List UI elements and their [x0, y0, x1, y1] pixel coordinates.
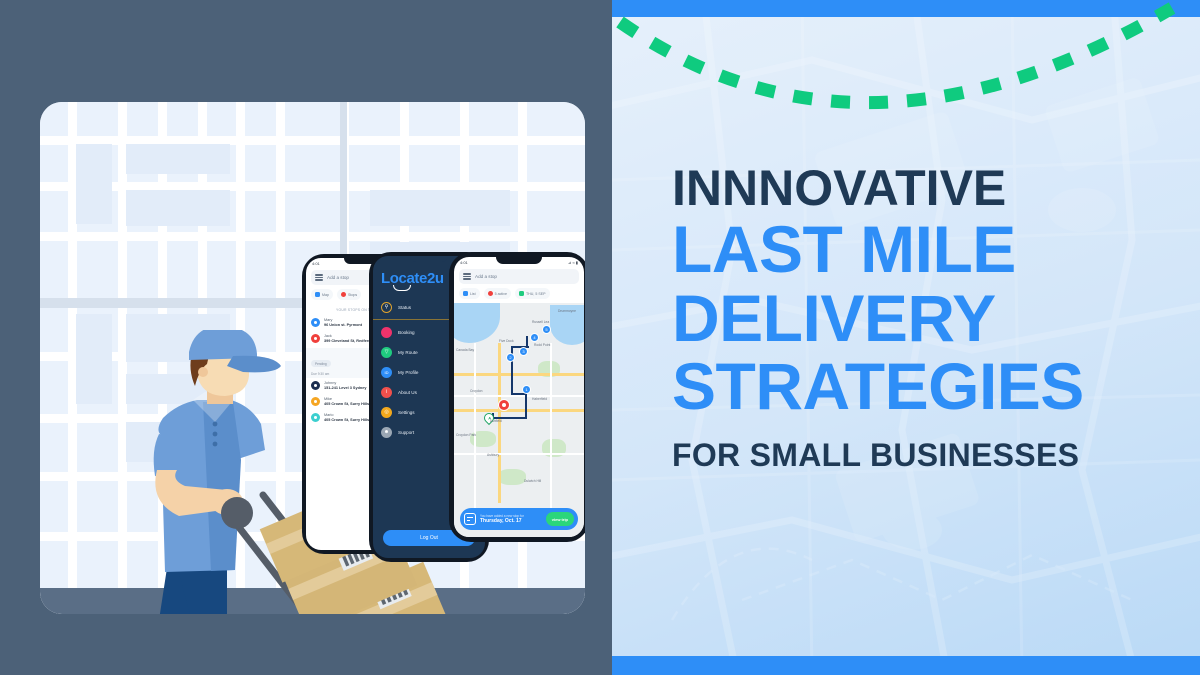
- route-marker[interactable]: 2: [506, 353, 515, 362]
- map-label: Croydon: [470, 389, 482, 393]
- headline-block: INNNOVATIVE LAST MILE DELIVERY STRATEGIE…: [672, 162, 1192, 474]
- green-dashed-arc: [612, 0, 1200, 140]
- route-marker[interactable]: 5: [542, 325, 551, 334]
- map-label: Five Dock: [499, 339, 514, 343]
- route-marker-label: 4: [533, 335, 535, 340]
- route-icon: ▽: [381, 347, 392, 358]
- chip-map[interactable]: Map: [311, 289, 333, 300]
- route-marker[interactable]: 3: [519, 347, 528, 356]
- stop-address: 405 Crown St, Surry Hills: [324, 402, 369, 407]
- booking-icon: [381, 327, 392, 338]
- route-marker-label: 1: [525, 387, 527, 392]
- right-content-panel: INNNOVATIVE LAST MILE DELIVERY STRATEGIE…: [612, 0, 1200, 675]
- map-label: Haberfield: [532, 397, 547, 401]
- map-label: Ashbury: [487, 453, 499, 457]
- stop-pin-icon: [311, 334, 320, 343]
- chip-list[interactable]: List: [459, 288, 480, 299]
- illustration-card: 4:01 ▮ Add a stop Map Stops: [40, 102, 585, 614]
- status-time: 4:01: [312, 261, 320, 266]
- status-icon: ⚲: [381, 302, 392, 313]
- map-label: Ashfield: [490, 419, 502, 423]
- map-label: Drummoyne: [558, 309, 576, 313]
- chip-active-stops[interactable]: 5 active: [484, 288, 511, 299]
- map-canvas[interactable]: 1 2 3 4 5 A Drummoyne Russell Lea Five D…: [454, 303, 584, 537]
- pin-icon: [488, 291, 493, 296]
- new-stop-toast: You have added a new stop for Thursday, …: [460, 508, 578, 530]
- phone-map-view: 4:01 ⊿ ≈ ▮ Add a stop List 5 active: [449, 252, 585, 542]
- map-label: Canada Bay: [456, 348, 474, 352]
- phone-right-screen: 4:01 ⊿ ≈ ▮ Add a stop List 5 active: [454, 257, 584, 537]
- map-label: Rodd Point: [534, 343, 550, 347]
- chip-date[interactable]: THU, 5 SEP: [515, 288, 550, 299]
- status-icons: ⊿ ≈ ▮: [568, 260, 578, 265]
- chip-map-label: Map: [322, 293, 329, 297]
- add-stop-search-right[interactable]: Add a stop: [459, 269, 579, 284]
- add-stop-placeholder: Add a stop: [327, 275, 349, 280]
- stop-pin-icon: [311, 397, 320, 406]
- map-label: Russell Lea: [532, 320, 549, 324]
- calendar-icon: [519, 291, 524, 296]
- chip-active-label: 5 active: [495, 292, 507, 296]
- bottom-accent-bar: [612, 656, 1200, 675]
- sidebar-item-label: Settings: [398, 410, 415, 415]
- headline-line-2: LAST MILE: [672, 215, 1192, 284]
- stop-address: 399 Cleveland St, Redfern: [324, 339, 371, 344]
- chip-stops-label: Stops: [348, 293, 357, 297]
- headline-line-4: STRATEGIES: [672, 352, 1192, 421]
- stop-address: 405 Crown St, Surry Hills: [324, 418, 369, 423]
- profile-icon: ID: [381, 367, 392, 378]
- subtitle: FOR SMALL BUSINESSES: [672, 437, 1192, 474]
- current-location-marker[interactable]: [498, 399, 510, 411]
- support-icon: ☻: [381, 427, 392, 438]
- sidebar-item-label: My Route: [398, 350, 418, 355]
- chip-list-label: List: [470, 292, 476, 296]
- map-icon: [315, 292, 320, 297]
- status-badge: Pending: [311, 360, 331, 367]
- calendar-icon: [464, 513, 476, 525]
- about-icon: i: [381, 387, 392, 398]
- map-label: Croydon Park: [456, 433, 476, 437]
- chip-stops[interactable]: Stops: [337, 289, 361, 300]
- list-icon: [463, 291, 468, 296]
- stop-pin-icon: [311, 413, 320, 422]
- route-marker-label: 3: [522, 349, 524, 354]
- hamburger-icon[interactable]: [463, 273, 471, 279]
- route-marker[interactable]: 4: [530, 333, 539, 342]
- road: [498, 343, 501, 503]
- hamburger-icon[interactable]: [315, 274, 323, 280]
- sidebar-item-label: About Us: [398, 390, 417, 395]
- filter-chip-row-right: List 5 active THU, 5 SEP: [454, 284, 584, 303]
- route-segment: [525, 393, 527, 419]
- add-stop-placeholder: Add a stop: [475, 274, 497, 279]
- settings-icon: ◎: [381, 407, 392, 418]
- road: [550, 343, 552, 523]
- toast-date: Thursday, Oct. 17: [480, 518, 524, 524]
- park-area: [498, 469, 526, 485]
- stop-pin-icon: [311, 318, 320, 327]
- headline-line-3: DELIVERY: [672, 284, 1192, 353]
- route-segment: [511, 360, 513, 394]
- chip-date-label: THU, 5 SEP: [526, 292, 546, 296]
- route-marker-label: 2: [509, 355, 511, 360]
- view-trip-button[interactable]: view trip: [546, 512, 574, 526]
- stop-address: 96 Union st. Pyrmont: [324, 323, 362, 328]
- pin-icon: [341, 292, 346, 297]
- status-time: 4:01: [460, 260, 468, 265]
- sidebar-item-label: Support: [398, 430, 414, 435]
- stop-address: 151-241 Level 3 Sydney: [324, 386, 366, 391]
- sidebar-item-label: My Profile: [398, 370, 418, 375]
- sidebar-item-label: Status: [398, 305, 411, 310]
- headline-line-1: INNNOVATIVE: [672, 162, 1192, 215]
- sidebar-item-label: Booking: [398, 330, 415, 335]
- water-body: [454, 303, 500, 343]
- left-illustration-panel: 4:01 ▮ Add a stop Map Stops: [0, 0, 612, 675]
- route-marker-label: 5: [545, 327, 547, 332]
- map-label: Dulwich Hill: [524, 479, 541, 483]
- stop-pin-icon: [311, 381, 320, 390]
- route-marker[interactable]: 1: [522, 385, 531, 394]
